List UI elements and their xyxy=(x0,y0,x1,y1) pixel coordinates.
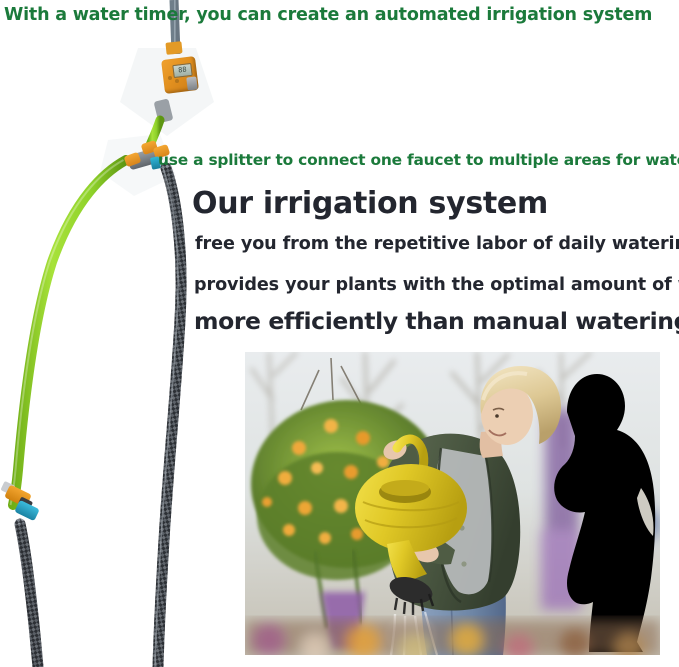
braided-hose-left-shade xyxy=(20,524,38,667)
headline-water-timer: With a water timer, you can create an au… xyxy=(4,5,652,25)
headline-splitter: use a splitter to connect one faucet to … xyxy=(158,151,679,169)
timer-button-a xyxy=(168,76,172,80)
timer-button-b xyxy=(175,79,179,83)
green-hose-main xyxy=(13,160,126,505)
benefit-line-1: free you from the repetitive labor of da… xyxy=(195,234,679,254)
connector-blue-collar xyxy=(14,500,39,521)
flower-bed-foreground xyxy=(245,620,660,655)
hose-connector-device xyxy=(2,483,48,529)
benefit-line-3: more efficiently than manual watering xyxy=(194,307,679,335)
green-hose-highlight xyxy=(11,160,124,505)
page-title: Our irrigation system xyxy=(192,186,548,221)
timer-lcd-screen: 88 xyxy=(172,63,192,78)
timer-dial-knob xyxy=(186,76,198,90)
timer-lcd-value: 88 xyxy=(173,64,191,77)
water-timer-device: 88 xyxy=(159,52,201,100)
benefit-line-2: provides your plants with the optimal am… xyxy=(194,275,679,295)
woman-watering-plants-photo xyxy=(245,352,660,655)
poster-canvas: 88 With a water timer, you can create an… xyxy=(0,0,679,667)
